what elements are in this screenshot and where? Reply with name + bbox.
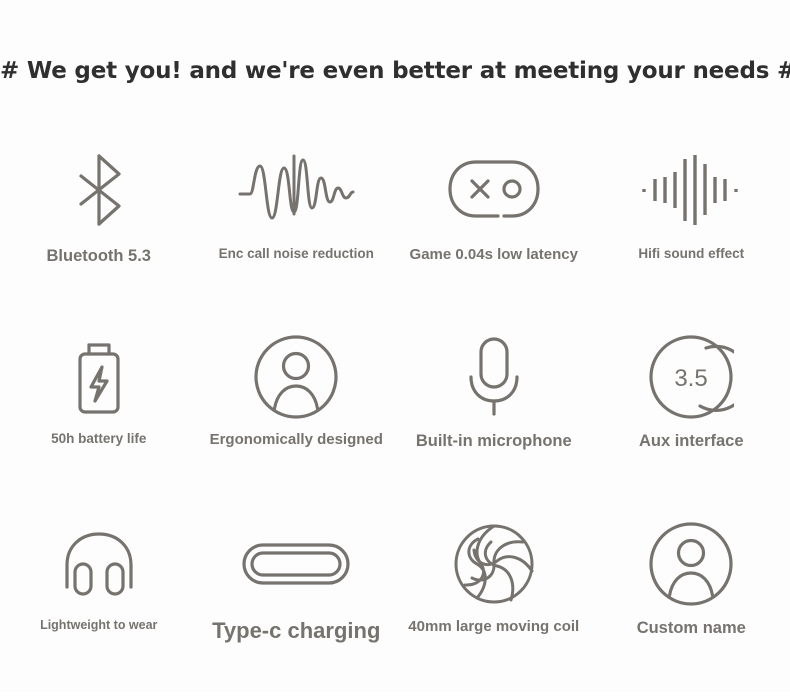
feature-label: Aux interface — [639, 432, 744, 450]
equalizer-bars-icon — [639, 135, 743, 245]
feature-label: Custom name — [637, 619, 746, 637]
feature-item-microphone: Built-in microphone — [395, 322, 593, 509]
feature-label: 50h battery life — [51, 432, 146, 447]
feature-item-ergonomic: Ergonomically designed — [198, 322, 396, 509]
feature-label: Built-in microphone — [416, 432, 572, 450]
feature-item-driver: 40mm large moving coil — [395, 509, 593, 696]
aux-value-text: 3.5 — [675, 365, 708, 392]
feature-label: Ergonomically designed — [210, 432, 383, 449]
feature-label: Bluetooth 5.3 — [46, 247, 151, 265]
feature-item-battery: 50h battery life — [0, 322, 198, 509]
feature-label: 40mm large moving coil — [408, 619, 579, 636]
microphone-icon — [461, 322, 527, 432]
bluetooth-icon — [69, 135, 129, 245]
feature-item-aux: 3.5 Aux interface — [593, 322, 790, 509]
headphones-icon — [59, 509, 139, 619]
feature-row: 50h battery life Ergonomically designed — [0, 322, 790, 509]
feature-item-bluetooth: Bluetooth 5.3 — [0, 135, 198, 322]
feature-item-noise-reduction: Enc call noise reduction — [198, 135, 396, 322]
person-circle-icon — [253, 322, 339, 432]
feature-item-lightweight: Lightweight to wear — [0, 509, 198, 696]
feature-highlights-page: # We get you! and we're even better at m… — [0, 0, 790, 692]
driver-aperture-icon — [453, 509, 535, 619]
feature-label: Type-c charging — [212, 619, 380, 643]
feature-label: Lightweight to wear — [40, 619, 157, 633]
feature-item-custom-name: Custom name — [593, 509, 790, 696]
noise-waveform-icon — [236, 135, 356, 245]
feature-row: Bluetooth 5.3 Enc call noise reduction — [0, 135, 790, 322]
feature-label: Hifi sound effect — [638, 247, 744, 262]
page-title: # We get you! and we're even better at m… — [0, 58, 790, 84]
battery-charge-icon — [71, 322, 127, 432]
feature-label: Game 0.04s low latency — [410, 247, 578, 264]
feature-label: Enc call noise reduction — [219, 247, 374, 262]
feature-item-low-latency: Game 0.04s low latency — [395, 135, 593, 322]
gamepad-icon — [446, 135, 542, 245]
aux-35mm-icon: 3.5 — [648, 322, 734, 432]
feature-grid: Bluetooth 5.3 Enc call noise reduction — [0, 135, 790, 696]
feature-row: Lightweight to wear Type-c charging — [0, 509, 790, 696]
feature-item-hifi: Hifi sound effect — [593, 135, 790, 322]
person-circle-icon — [648, 509, 734, 619]
usb-type-c-icon — [241, 509, 351, 619]
feature-item-typec: Type-c charging — [198, 509, 396, 696]
